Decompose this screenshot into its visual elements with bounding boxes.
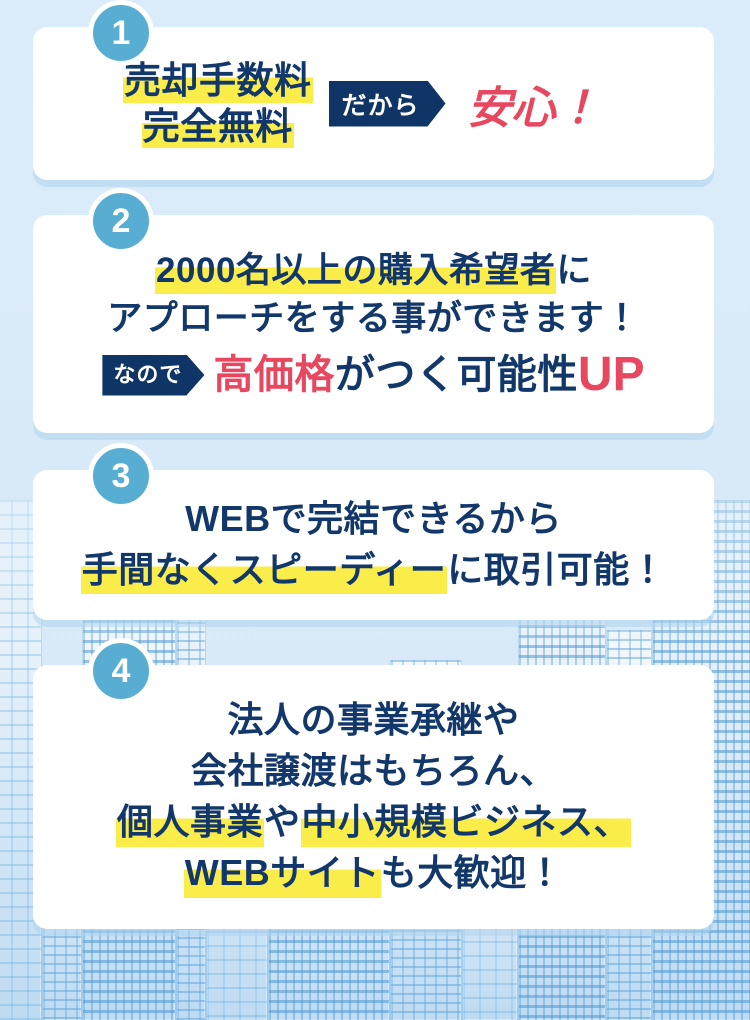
benefit-line: 個人事業 や 中小規模ビジネス、 xyxy=(116,798,631,847)
benefit-card-1-headline: 売却手数料 完全無料 xyxy=(123,59,313,148)
benefit-card-4: 4 法人の事業承継や 会社譲渡はもちろん、 個人事業 や 中小規模ビジネス、 W… xyxy=(33,665,714,929)
highlighted-text: 個人事業 xyxy=(116,798,264,847)
plain-text: や xyxy=(264,798,301,847)
benefit-number-badge-3: 3 xyxy=(88,443,154,509)
benefit-number-badge-2: 2 xyxy=(88,188,154,254)
benefit-card-2: 2 2000名以上の購入希望者に アプローチをする事ができます！ なので 高価格… xyxy=(33,215,714,433)
plain-text: アプローチをする事ができます！ xyxy=(107,296,640,342)
plain-text: も大歓迎！ xyxy=(381,849,564,898)
plain-text: に取引可能！ xyxy=(447,547,666,594)
highlighted-text: 手間なく xyxy=(81,547,229,594)
plain-text: 会社譲渡はもちろん、 xyxy=(191,747,556,796)
conjunction-tag-dakara: だから xyxy=(329,81,446,127)
benefits-list: 1 売却手数料 完全無料 だから 安心！ 2 2000名以上の購入希望者に アプ… xyxy=(0,0,750,1020)
conjunction-tag-nanode: なので xyxy=(102,355,204,396)
highlighted-text: スピーディー xyxy=(229,547,447,594)
highlighted-text: 2000名以上の購入希望者 xyxy=(155,248,556,294)
benefit-number-badge-1: 1 xyxy=(88,0,154,66)
benefit-line: 2000名以上の購入希望者に xyxy=(155,248,592,294)
benefit-line: 完全無料 xyxy=(142,105,294,148)
benefit-number-badge-4: 4 xyxy=(88,638,154,704)
benefit-line: WEBで完結できるから xyxy=(185,496,562,543)
benefit-card-3: 3 WEBで完結できるから 手間なく スピーディーに取引可能！ xyxy=(33,470,714,620)
benefit-card-4-body: 法人の事業承継や 会社譲渡はもちろん、 個人事業 や 中小規模ビジネス、 WEB… xyxy=(33,665,714,929)
benefit-line: 手間なく スピーディーに取引可能！ xyxy=(81,547,667,594)
highlighted-text: 売却手数料 xyxy=(123,59,313,102)
result-highlight-price: 高価格 xyxy=(213,351,335,399)
benefit-emphasis-anshin: 安心！ xyxy=(468,72,600,136)
plain-text: に xyxy=(556,248,592,294)
highlighted-text: 中小規模ビジネス、 xyxy=(301,798,632,847)
result-up-label: UP xyxy=(578,346,645,404)
benefit-line: 売却手数料 xyxy=(123,59,313,102)
benefit-line: 法人の事業承継や xyxy=(227,696,519,745)
benefit-line: 会社譲渡はもちろん、 xyxy=(191,747,556,796)
benefit-result-line: なので 高価格 がつく可能性 UP xyxy=(102,346,644,404)
result-text: がつく可能性 xyxy=(335,351,578,399)
benefit-card-1: 1 売却手数料 完全無料 だから 安心！ xyxy=(33,27,714,180)
plain-text: WEBで完結できるから xyxy=(185,496,562,543)
benefit-line: WEBサイトも大歓迎！ xyxy=(184,849,564,898)
highlighted-text: WEBサイト xyxy=(184,849,381,898)
highlighted-text: 完全無料 xyxy=(142,105,294,148)
benefit-line: アプローチをする事ができます！ xyxy=(107,296,640,342)
plain-text: 法人の事業承継や xyxy=(227,696,519,745)
